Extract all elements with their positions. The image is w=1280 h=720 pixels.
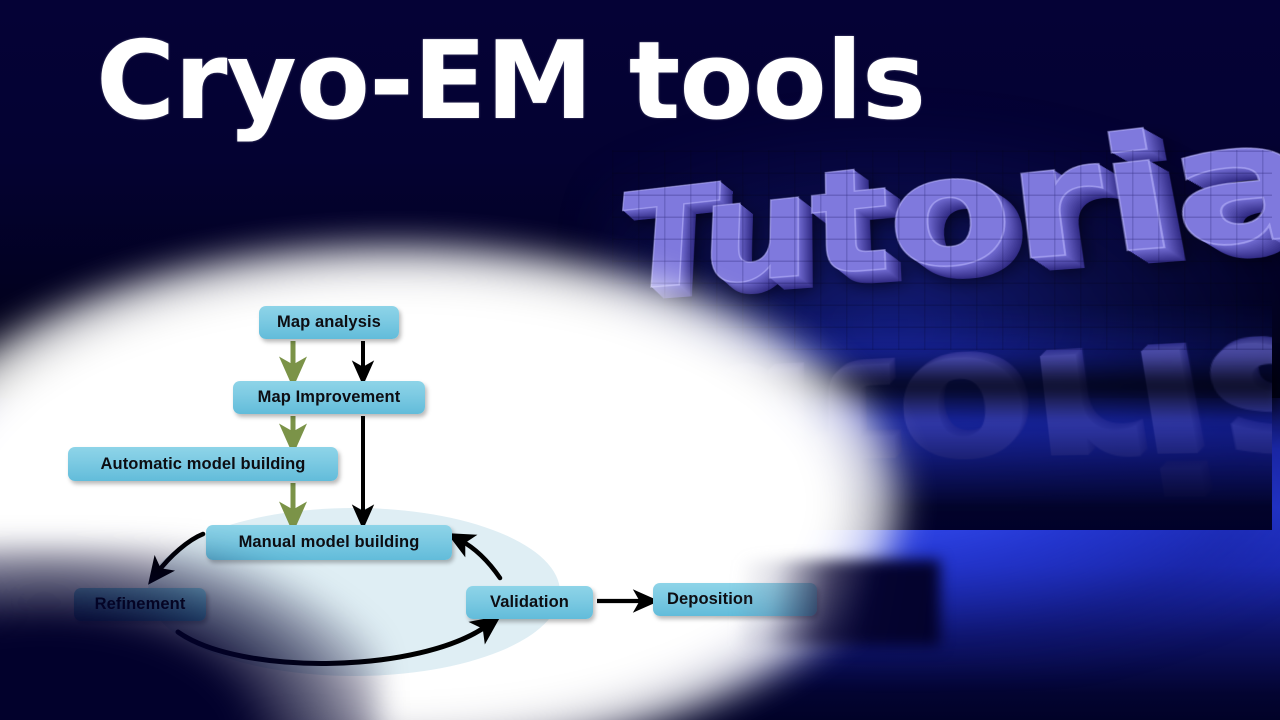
node-automatic-model-building[interactable]: Automatic model building bbox=[68, 447, 338, 481]
node-map-improvement[interactable]: Map Improvement bbox=[233, 381, 425, 414]
node-map-analysis[interactable]: Map analysis bbox=[259, 306, 399, 339]
node-validation[interactable]: Validation bbox=[466, 586, 593, 619]
edge-validation-to-manual-build bbox=[460, 540, 500, 578]
slide-title: Cryo-EM tools bbox=[96, 28, 925, 136]
deposition-vignette-fade bbox=[740, 560, 940, 646]
slide-canvas: Tutorial Tutorial Tutorial bbox=[0, 0, 1280, 720]
bottom-left-vignette-fade bbox=[0, 546, 380, 720]
